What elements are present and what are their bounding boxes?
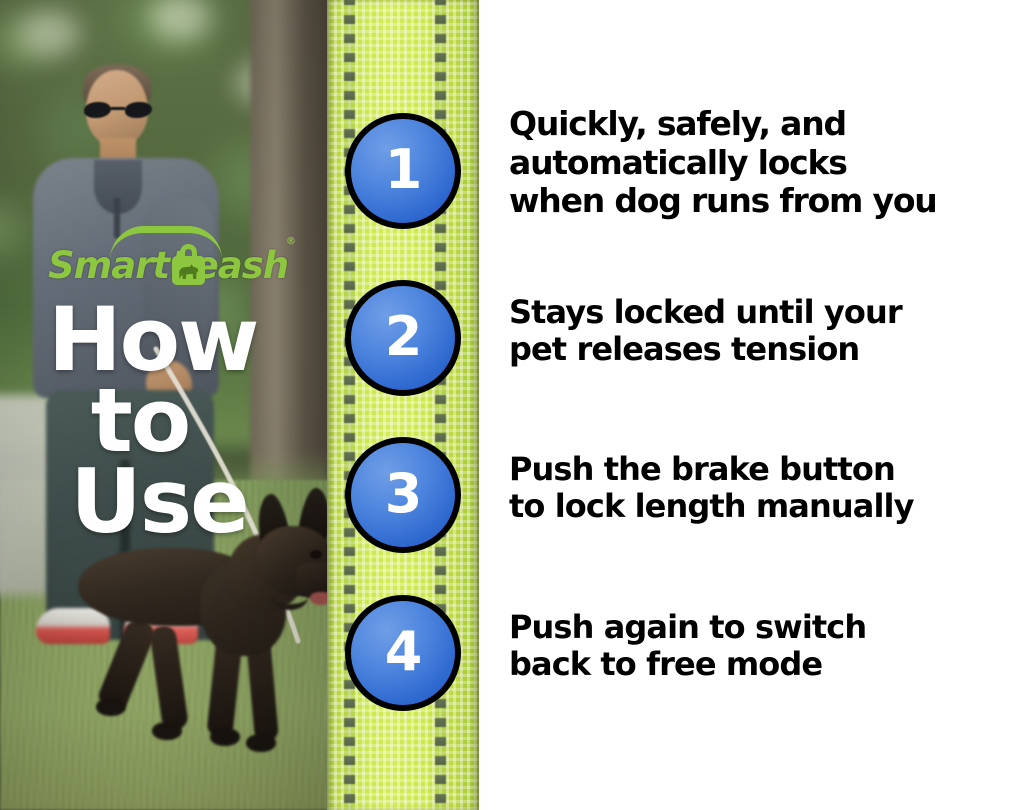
steps-list: 1 Quickly, safely, and automatically loc…: [0, 0, 1024, 810]
step-text-1: Quickly, safely, and automatically locks…: [509, 105, 1024, 221]
step-text-line: Quickly, safely, and: [509, 105, 1024, 144]
step-text-line: Push again to switch: [509, 609, 1024, 646]
step-number-1: 1: [385, 143, 422, 197]
step-text-line: to lock length manually: [509, 488, 1024, 525]
step-text-line: when dog runs from you: [509, 182, 1024, 221]
step-text-4: Push again to switch back to free mode: [509, 609, 1024, 684]
step-number-badge-2: 2: [345, 280, 461, 396]
step-text-line: Stays locked until your: [509, 294, 1024, 331]
step-number-badge-4: 4: [345, 595, 461, 711]
step-number-2: 2: [385, 310, 422, 364]
step-text-2: Stays locked until your pet releases ten…: [509, 294, 1024, 369]
step-text-3: Push the brake button to lock length man…: [509, 451, 1024, 526]
step-number-badge-3: 3: [345, 437, 461, 553]
step-number-3: 3: [385, 467, 422, 521]
step-number-badge-1: 1: [345, 113, 461, 229]
step-text-line: pet releases tension: [509, 331, 1024, 368]
how-to-use-infographic: Smart Leash ® How to Use 1 Quickly, saf: [0, 0, 1024, 810]
step-text-line: Push the brake button: [509, 451, 1024, 488]
step-number-4: 4: [385, 625, 422, 679]
step-text-line: back to free mode: [509, 646, 1024, 683]
step-text-line: automatically locks: [509, 144, 1024, 183]
